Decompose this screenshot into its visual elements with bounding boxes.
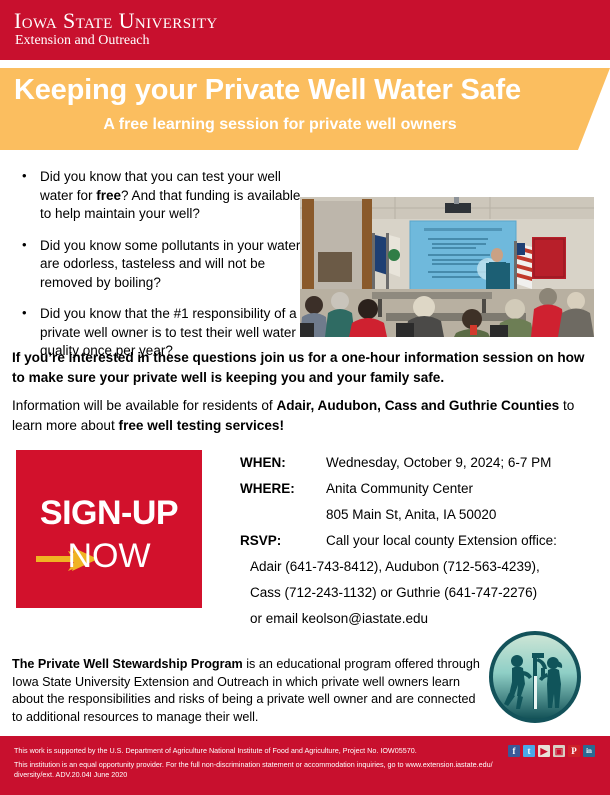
counties-bold: Adair, Audubon, Cass and Guthrie Countie… bbox=[276, 398, 559, 413]
stewardship-paragraph: The Private Well Stewardship Program is … bbox=[12, 656, 482, 726]
event-details: WHEN: Wednesday, October 9, 2024; 6-7 PM… bbox=[240, 450, 600, 632]
rsvp-email[interactable]: or email keolson@iastate.edu bbox=[240, 606, 428, 632]
detail-row-rsvp: RSVP: Call your local county Extension o… bbox=[240, 528, 600, 554]
facebook-icon[interactable]: f bbox=[508, 745, 520, 757]
detail-row-where: WHERE: Anita Community Center bbox=[240, 476, 600, 502]
youtube-icon[interactable]: ▶ bbox=[538, 745, 550, 757]
social-icons: f t ▶ ▣ P in bbox=[508, 745, 604, 758]
flyer-subtitle: A free learning session for private well… bbox=[0, 116, 560, 134]
pinterest-icon[interactable]: P bbox=[568, 745, 580, 757]
footer-line-2: This institution is an equal opportunity… bbox=[14, 760, 493, 770]
instagram-glyph: ▣ bbox=[553, 745, 565, 757]
linkedin-glyph: in bbox=[583, 745, 595, 757]
meeting-photo-illustration bbox=[300, 197, 594, 337]
detail-row-when: WHEN: Wednesday, October 9, 2024; 6-7 PM bbox=[240, 450, 600, 476]
youtube-glyph: ▶ bbox=[538, 745, 550, 757]
stewardship-bold: The Private Well Stewardship Program bbox=[12, 657, 243, 671]
linkedin-icon[interactable]: in bbox=[583, 745, 595, 757]
rsvp-phones-line2: Cass (712-243-1132) or Guthrie (641-747-… bbox=[240, 580, 537, 606]
intro-paragraph: If you’re interested in these questions … bbox=[12, 348, 598, 388]
detail-row-email[interactable]: or email keolson@iastate.edu bbox=[240, 606, 600, 632]
flyer-title: Keeping your Private Well Water Safe bbox=[14, 74, 521, 107]
where-label: WHERE: bbox=[240, 476, 295, 502]
list-item: Did you know that you can test your well… bbox=[14, 168, 304, 224]
meeting-photo bbox=[300, 197, 594, 337]
pinterest-glyph: P bbox=[568, 745, 580, 757]
detail-row-phones-1: Adair (641-743-8412), Audubon (712-563-4… bbox=[240, 554, 600, 580]
title-banner: Keeping your Private Well Water Safe A f… bbox=[0, 68, 610, 150]
where-address-value: 805 Main St, Anita, IA 50020 bbox=[326, 502, 496, 528]
isu-header-bar: Iowa State University Extension and Outr… bbox=[0, 0, 610, 60]
when-label: WHEN: bbox=[240, 450, 286, 476]
bullet-text-2: Did you know some pollutants in your wat… bbox=[40, 238, 300, 290]
sign-up-now-box[interactable]: SIGN-UP NOW bbox=[16, 450, 202, 608]
sign-up-label: SIGN-UP bbox=[16, 494, 202, 533]
instagram-icon[interactable]: ▣ bbox=[553, 745, 565, 757]
rsvp-value: Call your local county Extension office: bbox=[326, 528, 557, 554]
twitter-icon[interactable]: t bbox=[523, 745, 535, 757]
rsvp-label: RSVP: bbox=[240, 528, 281, 554]
twitter-glyph: t bbox=[523, 745, 535, 757]
detail-row-phones-2: Cass (712-243-1132) or Guthrie (641-747-… bbox=[240, 580, 600, 606]
well-stewardship-logo-icon bbox=[489, 631, 581, 723]
free-testing-bold: free well testing services! bbox=[119, 418, 284, 433]
detail-row-address: 805 Main St, Anita, IA 50020 bbox=[240, 502, 600, 528]
counties-text-pre: Information will be available for reside… bbox=[12, 398, 276, 413]
where-value: Anita Community Center bbox=[326, 476, 473, 502]
isu-extension-subtitle: Extension and Outreach bbox=[15, 33, 150, 49]
list-item: Did you know some pollutants in your wat… bbox=[14, 237, 304, 293]
when-value: Wednesday, October 9, 2024; 6-7 PM bbox=[326, 450, 551, 476]
footer-line-3: diversity/ext. ADV.20.04I June 2020 bbox=[14, 770, 127, 780]
now-label: NOW bbox=[16, 537, 202, 576]
facebook-glyph: f bbox=[508, 745, 520, 757]
question-bullet-list: Did you know that you can test your well… bbox=[14, 168, 304, 374]
bullet-bold-free: free bbox=[96, 188, 121, 203]
flyer-page: Iowa State University Extension and Outr… bbox=[0, 0, 610, 795]
isu-wordmark: Iowa State University bbox=[14, 9, 218, 32]
footer-line-1: This work is supported by the U.S. Depar… bbox=[14, 746, 417, 756]
rsvp-phones-line1: Adair (641-743-8412), Audubon (712-563-4… bbox=[240, 554, 540, 580]
counties-paragraph: Information will be available for reside… bbox=[12, 396, 598, 436]
